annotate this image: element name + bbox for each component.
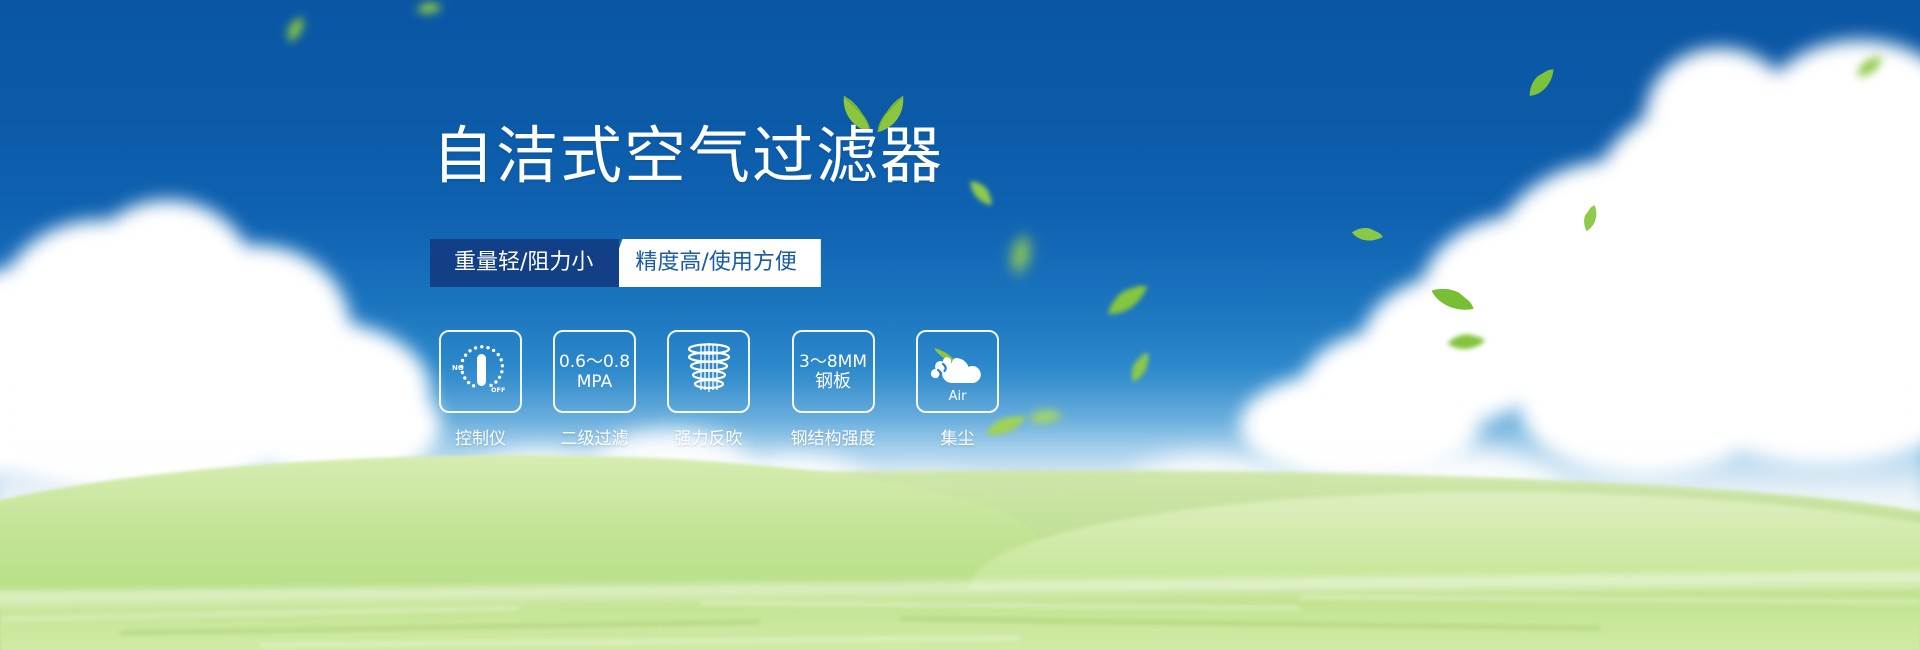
- feature-label: 控制仪: [455, 424, 506, 449]
- feature-icon-box: Air: [916, 330, 999, 413]
- steel-value-line2: 钢板: [815, 372, 851, 392]
- pressure-value-line1: 0.6～0.8: [559, 352, 630, 372]
- subtitle-right: 精度高/使用方便: [605, 239, 820, 287]
- pressure-value-line2: MPA: [577, 372, 612, 392]
- banner-content: 自洁式空气过滤器 重量轻/阻力小 精度高/使用方便: [0, 0, 1920, 650]
- air-cloud-icon: [926, 342, 990, 393]
- feature-item-control-dial[interactable]: NO OFF 控制仪: [439, 330, 522, 449]
- steel-value-line1: 3～8MM: [799, 352, 867, 372]
- feature-label: 二级过滤: [561, 424, 629, 449]
- air-label: Air: [918, 389, 997, 404]
- feature-icon-box: NO OFF: [439, 330, 522, 413]
- feature-label: 集尘: [941, 424, 975, 449]
- page-title: 自洁式空气过滤器: [432, 125, 944, 187]
- feature-icon-box: 3～8MM 钢板: [792, 330, 875, 413]
- feature-item-backblow[interactable]: 强力反吹: [667, 330, 750, 449]
- filter-coil-icon: [681, 340, 737, 403]
- control-dial-icon: NO OFF: [450, 340, 512, 403]
- feature-item-dust-collection[interactable]: Air 集尘: [916, 330, 999, 449]
- feature-label: 强力反吹: [675, 424, 743, 449]
- subtitle-strip: 重量轻/阻力小 精度高/使用方便: [430, 239, 821, 287]
- product-hero-banner: 自洁式空气过滤器 重量轻/阻力小 精度高/使用方便: [0, 0, 1920, 650]
- feature-label: 钢结构强度: [791, 424, 876, 449]
- svg-text:NO: NO: [452, 364, 464, 372]
- feature-list: NO OFF 控制仪 0.6～0.8 MPA 二级过滤: [439, 330, 999, 449]
- feature-item-pressure[interactable]: 0.6～0.8 MPA 二级过滤: [553, 330, 636, 449]
- feature-icon-box: 0.6～0.8 MPA: [553, 330, 636, 413]
- feature-item-steel-plate[interactable]: 3～8MM 钢板 钢结构强度: [781, 330, 885, 449]
- svg-text:OFF: OFF: [491, 386, 505, 394]
- feature-icon-box: [667, 330, 750, 413]
- subtitle-left: 重量轻/阻力小: [430, 239, 619, 287]
